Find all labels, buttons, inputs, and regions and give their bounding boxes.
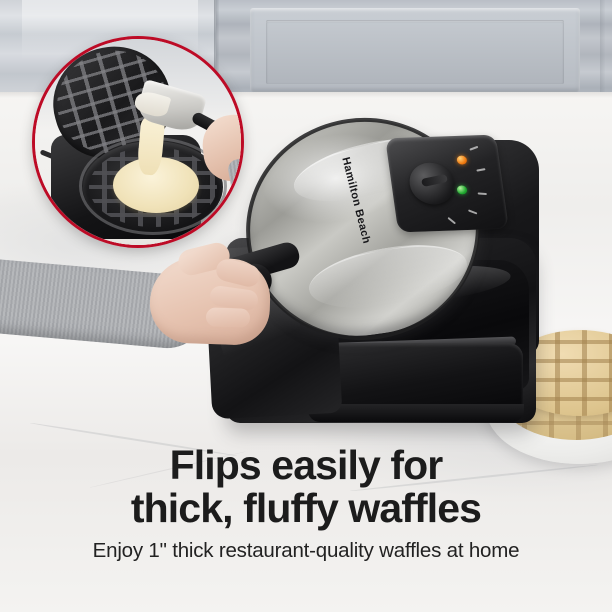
product-marketing-image: Hamilton Beach bbox=[0, 0, 612, 612]
knob-tick-mark bbox=[476, 168, 485, 172]
headline-line-2: thick, fluffy waffles bbox=[0, 487, 612, 530]
power-indicator-light bbox=[456, 155, 467, 164]
ready-indicator-light bbox=[456, 185, 467, 194]
cabinet-seam bbox=[600, 0, 605, 100]
knob-tick-mark bbox=[478, 192, 487, 195]
headline: Flips easily for thick, fluffy waffles bbox=[0, 444, 612, 530]
headline-line-1: Flips easily for bbox=[170, 442, 443, 488]
knob-tick-mark bbox=[469, 146, 478, 151]
finger bbox=[206, 307, 251, 328]
marketing-text-block: Flips easily for thick, fluffy waffles E… bbox=[0, 444, 612, 563]
knob-tick-mark bbox=[447, 217, 456, 224]
cabinet-panel-right bbox=[250, 8, 580, 92]
subheadline: Enjoy 1" thick restaurant-quality waffle… bbox=[0, 539, 612, 563]
control-panel[interactable] bbox=[385, 135, 509, 233]
knob-tick-mark bbox=[468, 209, 477, 214]
inset-callout-circle bbox=[32, 36, 244, 248]
